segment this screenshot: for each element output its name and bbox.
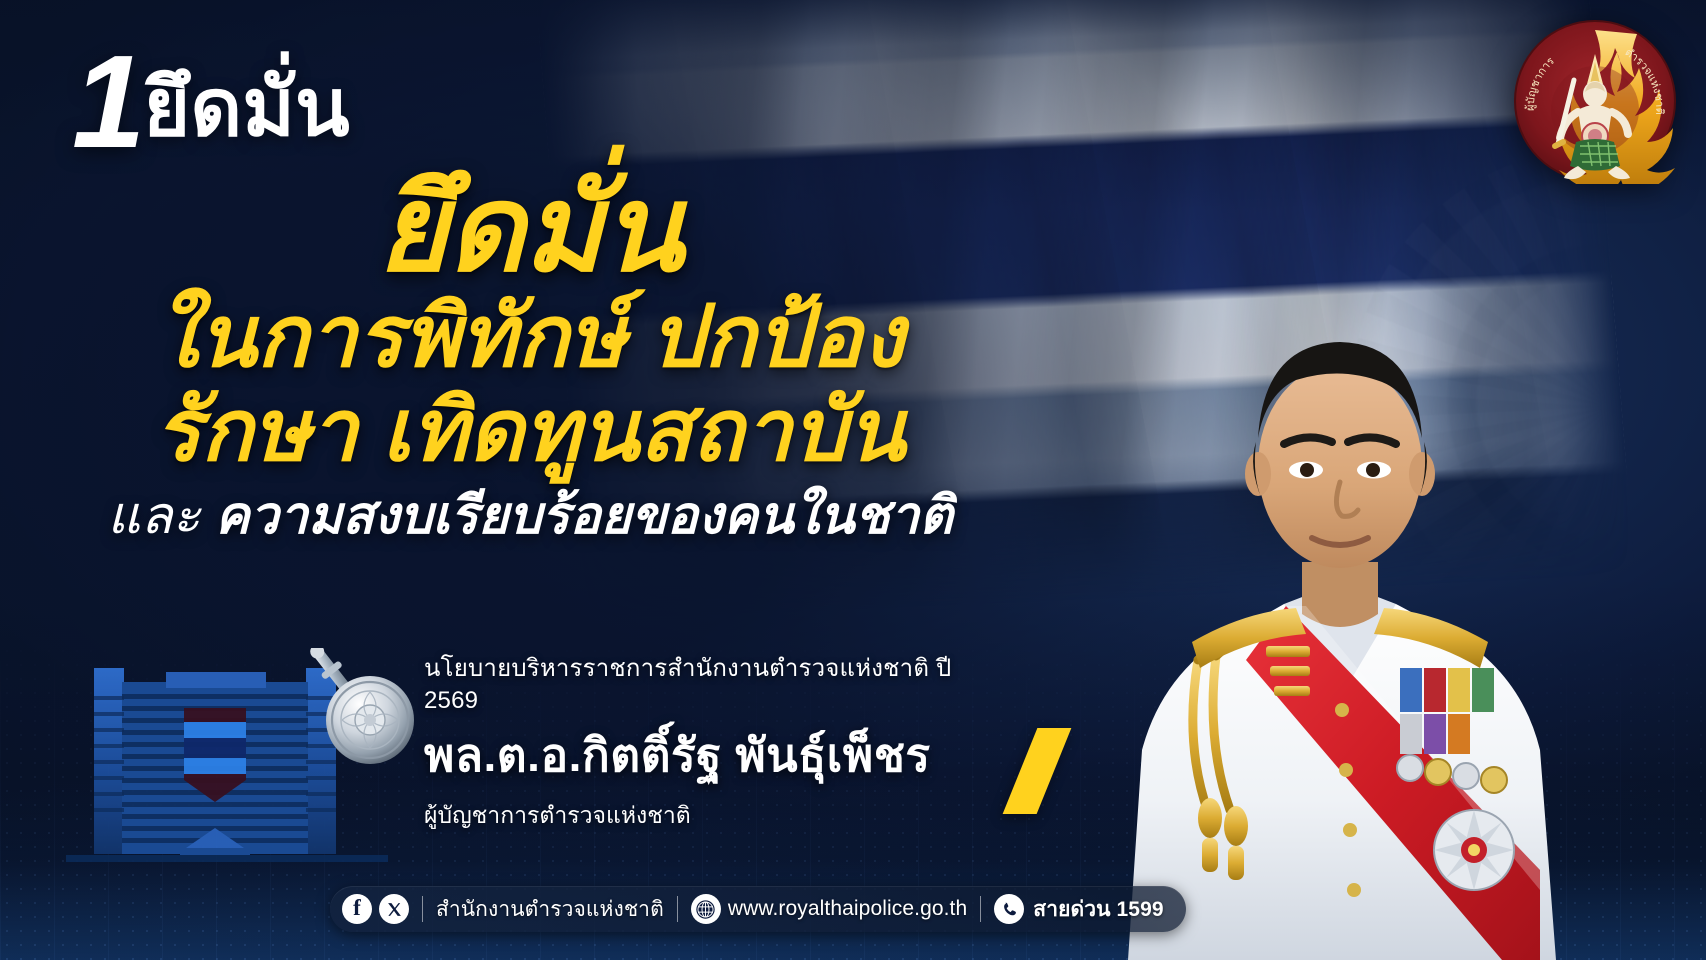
footer-divider-1	[422, 896, 423, 922]
commissioner-name: พล.ต.อ.กิตติ์รัฐ พันธุ์เพ็ชร	[424, 719, 984, 792]
royal-thai-police-emblem-icon: ผู้บัญชาการ ตำรวจแห่งชาติ	[1512, 18, 1678, 184]
footer-contact-bar: f สำนักงานตำรวจแห่งชาติ www.royalthaipol…	[330, 886, 1186, 932]
footer-hotline: สายด่วน 1599	[1033, 893, 1163, 926]
kicker-block: 1 ยึดมั่น	[72, 44, 350, 160]
poster-root: 1 ยึดมั่น ยึดมั่น ในการพิทักษ์ ปกป้อง รั…	[0, 0, 1706, 960]
footer-website[interactable]: www.royalthaipolice.go.th	[728, 897, 967, 921]
facebook-icon[interactable]: f	[342, 894, 372, 924]
kicker-number: 1	[72, 44, 139, 160]
headline-line-4-prefix: และ	[107, 487, 215, 545]
globe-icon	[691, 894, 721, 924]
headline-block: ยึดมั่น ในการพิทักษ์ ปกป้อง รักษา เทิดทู…	[0, 168, 1060, 545]
phone-icon	[994, 894, 1024, 924]
policy-caption: นโยบายบริหารราชการสำนักงานตำรวจแห่งชาติ …	[424, 648, 984, 715]
headline-line-2: ในการพิทักษ์ ปกป้อง	[0, 292, 1060, 383]
signature-block: นโยบายบริหารราชการสำนักงานตำรวจแห่งชาติ …	[424, 648, 984, 834]
commissioner-role: ผู้บัญชาการตำรวจแห่งชาติ	[424, 798, 984, 834]
headline-line-4: และ ความสงบเรียบร้อยของคนในชาติ	[0, 487, 1060, 545]
commissioner-portrait	[1070, 190, 1610, 960]
headline-line-1: ยึดมั่น	[0, 168, 1060, 290]
footer-divider-2	[677, 896, 678, 922]
footer-divider-3	[980, 896, 981, 922]
footer-social-label: สำนักงานตำรวจแห่งชาติ	[436, 893, 664, 926]
headline-line-4-bold: ความสงบเรียบร้อยของคนในชาติ	[215, 487, 953, 545]
kicker-word: ยึดมั่น	[143, 64, 349, 152]
headline-line-3: รักษา เทิดทูนสถาบัน	[0, 386, 1060, 477]
police-medal-and-sword	[300, 648, 426, 774]
x-twitter-icon[interactable]	[379, 894, 409, 924]
